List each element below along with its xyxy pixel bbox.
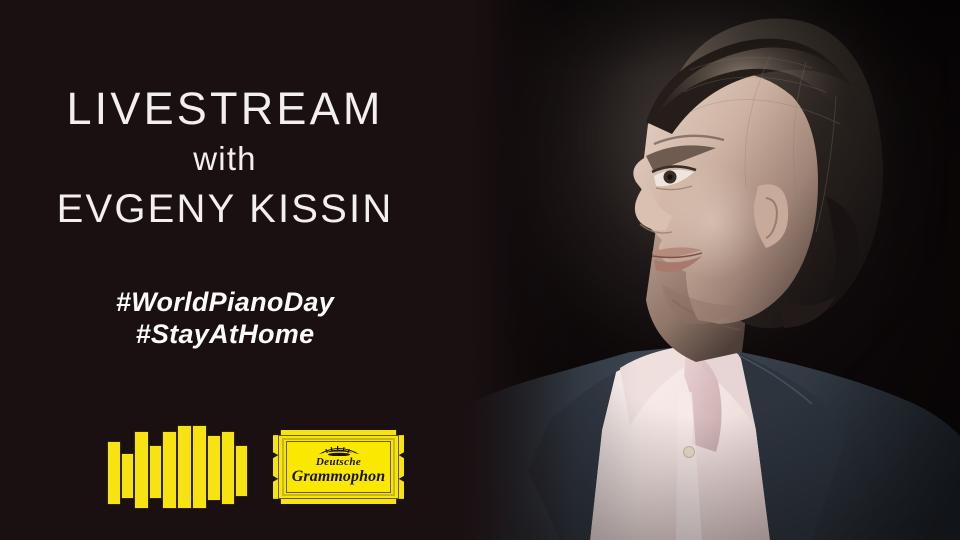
piano-key-6: [178, 426, 191, 508]
shirt-button: [684, 447, 695, 458]
poster-canvas: LIVESTREAM with EVGENY KISSIN #WorldPian…: [0, 0, 960, 540]
piano-key-9: [222, 432, 234, 504]
piano-key-8: [208, 436, 220, 500]
headline-line-3: EVGENY KISSIN: [0, 184, 450, 234]
pupil: [667, 174, 672, 179]
piano-key-1: [108, 442, 120, 504]
copy-column: LIVESTREAM with EVGENY KISSIN #WorldPian…: [0, 0, 470, 540]
headline-line-1: LIVESTREAM: [0, 84, 450, 134]
hashtag-world-piano-day: #WorldPianoDay: [0, 286, 450, 318]
logo-row: Stylized yellow piano keyboard: [104, 424, 414, 514]
piano-keys-icon: Stylized yellow piano keyboard: [108, 424, 244, 508]
deutsche-grammophon-logo: Deutsche Grammophon: [273, 430, 404, 504]
dg-word-deutsche: Deutsche: [273, 456, 404, 468]
dg-tulip-crown-icon: [316, 443, 362, 456]
piano-key-10: [236, 446, 247, 496]
hashtag-block: #WorldPianoDay #StayAtHome: [0, 286, 450, 350]
piano-key-4: [150, 446, 161, 498]
piano-key-5: [163, 432, 176, 508]
hashtag-stay-at-home: #StayAtHome: [0, 318, 450, 350]
piano-keys-alt: Stylized yellow piano keyboard: [108, 424, 109, 425]
piano-key-2: [122, 454, 133, 498]
dg-wordmark: Deutsche Grammophon: [273, 456, 404, 486]
headline-block: LIVESTREAM with EVGENY KISSIN: [0, 84, 450, 234]
headline-line-2: with: [0, 134, 450, 184]
piano-key-3: [135, 432, 148, 508]
portrait-illustration: [440, 0, 960, 540]
evgeny-kissin-portrait: [440, 0, 960, 540]
piano-key-7: [193, 426, 206, 508]
dg-word-grammophon: Grammophon: [273, 468, 404, 486]
